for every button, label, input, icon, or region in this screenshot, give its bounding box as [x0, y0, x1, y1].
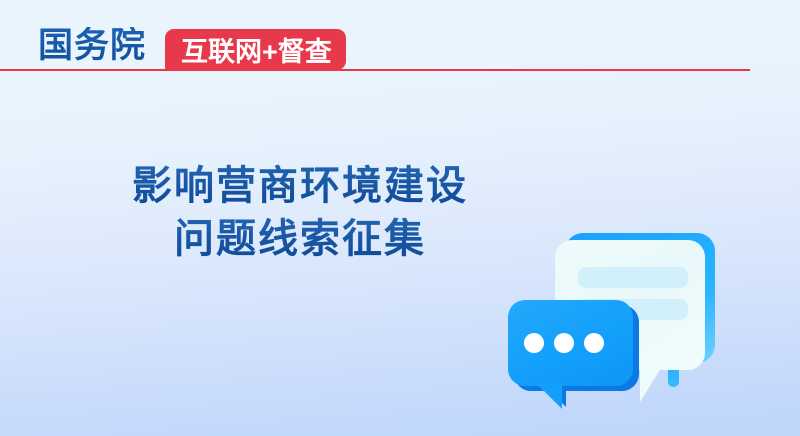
program-badge-label: 互联网+督查: [181, 30, 332, 69]
message-bubble-large-tail: [640, 360, 666, 402]
message-text-bar: [578, 267, 688, 288]
page-title-line-1: 影响营商环境建设: [0, 160, 600, 213]
message-bubble-small-tail: [536, 383, 562, 409]
banner-header: 国务院 互联网+督查: [0, 0, 800, 78]
typing-dot-icon: [524, 333, 544, 353]
program-badge: 互联网+督查: [165, 29, 346, 70]
typing-dot-icon: [554, 333, 574, 353]
organization-name: 国务院: [38, 27, 146, 65]
banner-graphic: 国务院 互联网+督查 影响营商环境建设 问题线索征集: [0, 0, 800, 436]
header-divider-rule: [0, 69, 750, 71]
chat-bubbles-illustration: [490, 215, 780, 436]
typing-dot-icon: [584, 333, 604, 353]
